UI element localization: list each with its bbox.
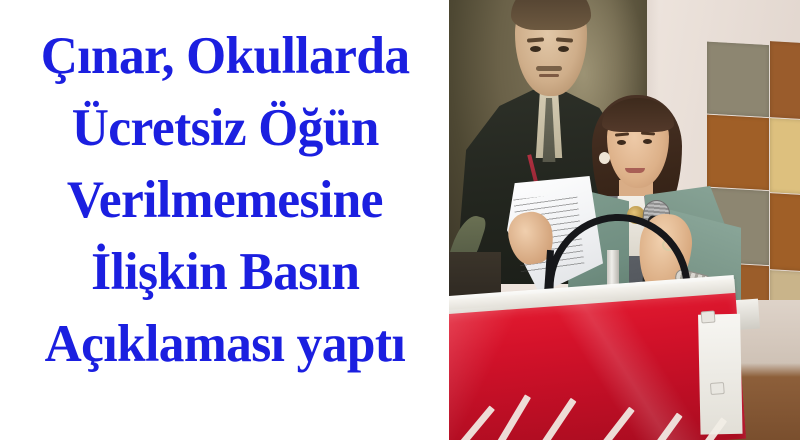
headline-line-3: Verilmemesine [67,164,383,236]
news-photo [449,0,800,440]
headline-line-4: İlişkin Basın [91,236,359,308]
flag-clip [701,310,716,323]
headline-line-5: Açıklaması yaptı [45,308,406,380]
flag-clip [710,382,725,395]
headline-line-2: Ücretsiz Öğün [71,92,378,164]
speaker-eye [617,140,626,145]
speaker-earring [599,152,610,164]
news-header-image: Çınar, Okullarda Ücretsiz Öğün Verilmeme… [0,0,800,440]
speaker-eye [643,139,652,144]
speaker-mouth [625,168,645,173]
headline-line-1: Çınar, Okullarda [41,20,410,92]
headline-block: Çınar, Okullarda Ücretsiz Öğün Verilmeme… [0,0,450,440]
chp-flag [449,289,746,440]
